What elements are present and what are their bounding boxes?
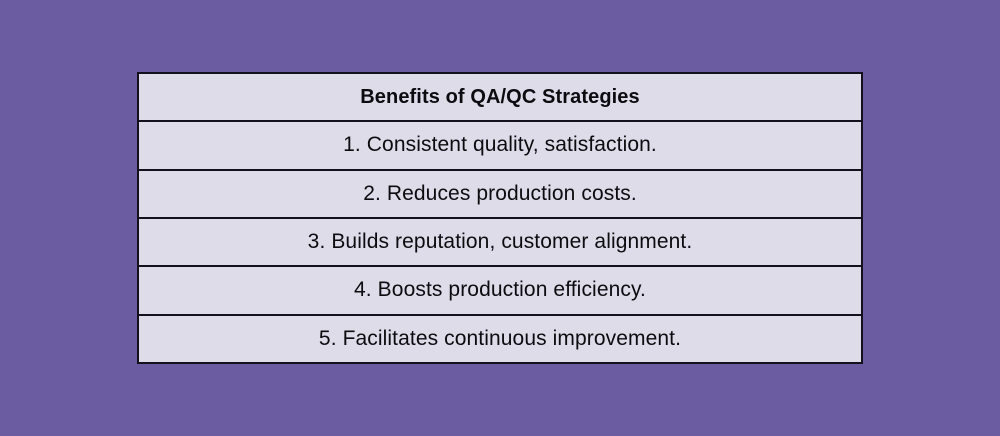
slide-canvas: Benefits of QA/QC Strategies 1. Consiste… — [0, 0, 1000, 436]
benefit-item-2: 2. Reduces production costs. — [138, 170, 862, 218]
benefits-table: Benefits of QA/QC Strategies 1. Consiste… — [137, 72, 863, 364]
table-row: 4. Boosts production efficiency. — [138, 266, 862, 314]
table-row: 5. Facilitates continuous improvement. — [138, 315, 862, 363]
benefit-item-4: 4. Boosts production efficiency. — [138, 266, 862, 314]
table-row: 3. Builds reputation, customer alignment… — [138, 218, 862, 266]
table-header-row: Benefits of QA/QC Strategies — [138, 73, 862, 121]
table-header-group: Benefits of QA/QC Strategies — [138, 73, 862, 121]
benefit-item-5: 5. Facilitates continuous improvement. — [138, 315, 862, 363]
benefit-item-3: 3. Builds reputation, customer alignment… — [138, 218, 862, 266]
table-row: 2. Reduces production costs. — [138, 170, 862, 218]
benefit-item-1: 1. Consistent quality, satisfaction. — [138, 121, 862, 169]
table-body: 1. Consistent quality, satisfaction. 2. … — [138, 121, 862, 363]
table-header-title: Benefits of QA/QC Strategies — [138, 73, 862, 121]
table-row: 1. Consistent quality, satisfaction. — [138, 121, 862, 169]
